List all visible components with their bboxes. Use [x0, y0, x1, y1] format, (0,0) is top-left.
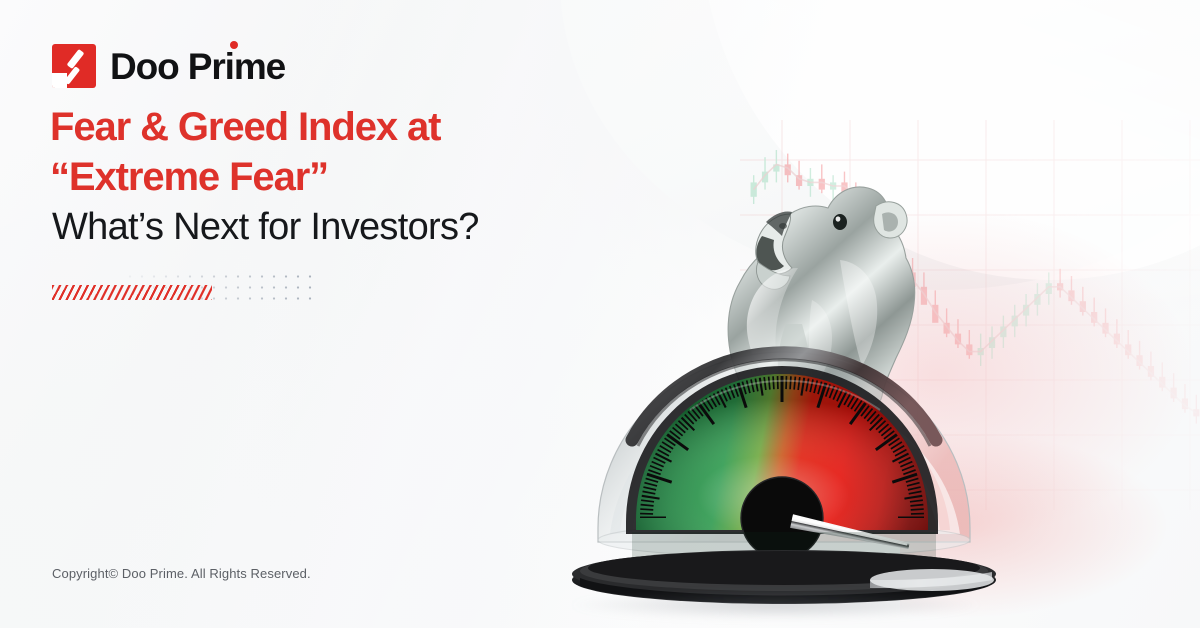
diagonal-stripe-bar-icon	[52, 285, 212, 300]
promo-banner: Doo Prime Fear & Greed Index at “Extreme…	[0, 0, 1200, 628]
brand-logo[interactable]: Doo Prime	[52, 44, 285, 88]
hero-illustration	[540, 110, 1060, 628]
logo-notch	[52, 73, 67, 88]
decor-block	[52, 271, 318, 309]
hero-contact-shadow	[566, 590, 986, 620]
brand-name: Doo Prime	[110, 48, 285, 85]
subtitle: What’s Next for Investors?	[52, 205, 479, 251]
doo-prime-flag-mark-icon	[52, 44, 96, 88]
copyright-text: Copyright© Doo Prime. All Rights Reserve…	[52, 566, 311, 581]
